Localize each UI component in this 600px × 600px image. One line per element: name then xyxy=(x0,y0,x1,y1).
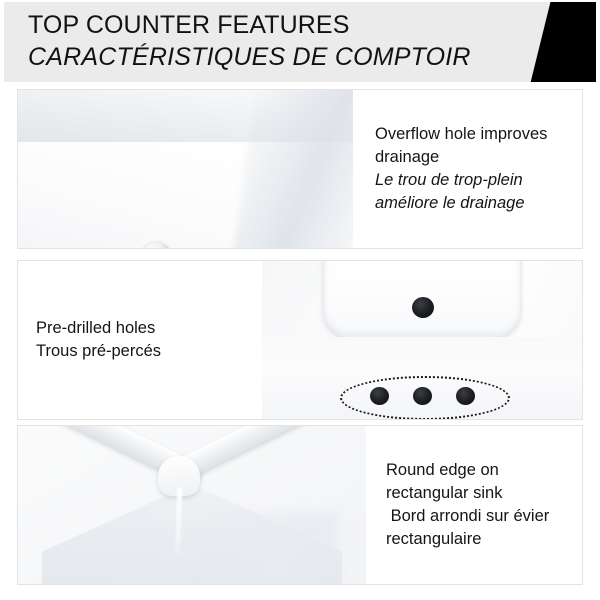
panel-1-caption-en: Overflow hole improves drainage xyxy=(375,123,582,169)
pre-drilled-holes-photo xyxy=(262,261,582,419)
panel-2-caption-en: Pre-drilled holes xyxy=(36,317,262,340)
panel-1-caption-block: Overflow hole improves drainage Le trou … xyxy=(353,90,582,248)
panel-2-caption-block: Pre-drilled holes Trous pré-percés xyxy=(18,261,262,419)
pre-drilled-hole-icon xyxy=(456,387,475,405)
panel-1-caption-fr: Le trou de trop-plein améliore le draina… xyxy=(375,169,582,215)
feature-panel-round-edge: Round edge on rectangular sink Bord arro… xyxy=(17,425,583,585)
pre-drilled-hole-icon xyxy=(413,387,432,405)
header-banner: TOP COUNTER FEATURES CARACTÉRISTIQUES DE… xyxy=(4,2,596,82)
panel-3-caption-en: Round edge on rectangular sink xyxy=(386,459,582,505)
panel-2-caption-fr: Trous pré-percés xyxy=(36,340,262,363)
panel-3-caption-block: Round edge on rectangular sink Bord arro… xyxy=(366,426,582,584)
product-feature-infographic: TOP COUNTER FEATURES CARACTÉRISTIQUES DE… xyxy=(0,0,600,600)
header-accent-wedge xyxy=(530,2,596,82)
drain-hole-icon xyxy=(412,297,434,318)
feature-panel-pre-drilled-holes: Pre-drilled holes Trous pré-percés xyxy=(17,260,583,420)
interior-gloss xyxy=(206,512,338,584)
pre-drilled-hole-icon xyxy=(370,387,389,405)
round-edge-corner-photo xyxy=(18,426,366,584)
feature-panel-overflow-hole: Overflow hole improves drainage Le trou … xyxy=(17,89,583,249)
page-title-en: TOP COUNTER FEATURES xyxy=(28,8,349,43)
page-title-fr: CARACTÉRISTIQUES DE COMPTOIR xyxy=(28,40,471,75)
overflow-hole-photo xyxy=(18,90,353,248)
panel-3-caption-fr: Bord arrondi sur évier rectangulaire xyxy=(386,505,582,551)
